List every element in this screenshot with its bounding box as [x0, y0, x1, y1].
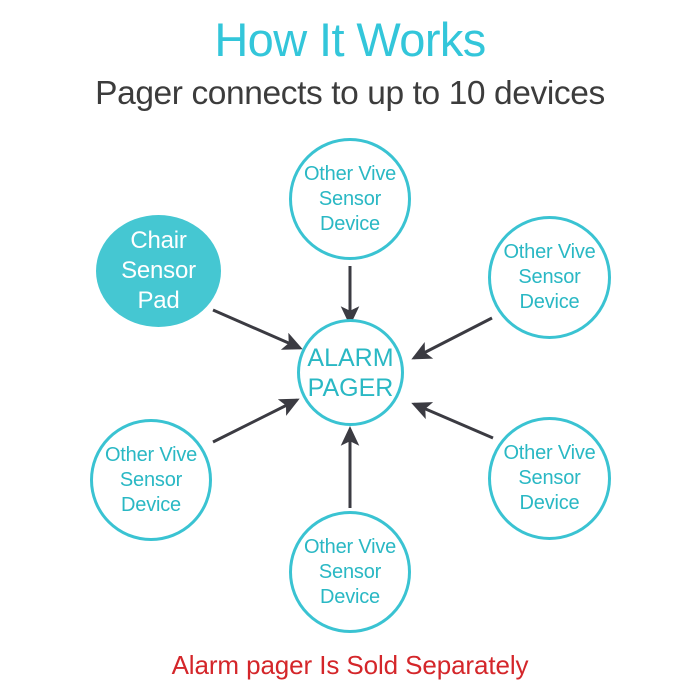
node-other-vive-sensor-device-bottom-right[interactable]: Other Vive Sensor Device	[488, 417, 611, 540]
arrow-chair-pad-to-hub	[213, 310, 300, 348]
node-label: Other Vive Sensor Device	[503, 240, 595, 315]
node-chair-sensor-pad-label: Chair Sensor Pad	[121, 226, 196, 316]
arrow-bottom-left-to-hub	[213, 400, 297, 442]
infographic-canvas: How It Works Pager connects to up to 10 …	[0, 0, 700, 700]
node-chair-sensor-pad[interactable]: Chair Sensor Pad	[96, 215, 221, 327]
node-other-vive-sensor-device-bottom[interactable]: Other Vive Sensor Device	[289, 511, 411, 633]
node-label: Other Vive Sensor Device	[105, 443, 197, 518]
node-other-vive-sensor-device-bottom-left[interactable]: Other Vive Sensor Device	[90, 419, 212, 541]
hub-and-spoke-diagram: ALARM PAGER Other Vive Sensor Device Oth…	[0, 0, 700, 700]
node-alarm-pager[interactable]: ALARM PAGER	[297, 319, 404, 426]
node-label: Other Vive Sensor Device	[503, 441, 595, 516]
node-label: Other Vive Sensor Device	[304, 535, 396, 610]
node-other-vive-sensor-device-top-right[interactable]: Other Vive Sensor Device	[488, 216, 611, 339]
node-alarm-pager-label: ALARM PAGER	[307, 343, 393, 403]
node-other-vive-sensor-device-top[interactable]: Other Vive Sensor Device	[289, 138, 411, 260]
footer-disclaimer: Alarm pager Is Sold Separately	[0, 648, 700, 682]
node-label: Other Vive Sensor Device	[304, 162, 396, 237]
arrow-top-right-to-hub	[414, 318, 492, 358]
arrow-bottom-right-to-hub	[414, 404, 493, 438]
